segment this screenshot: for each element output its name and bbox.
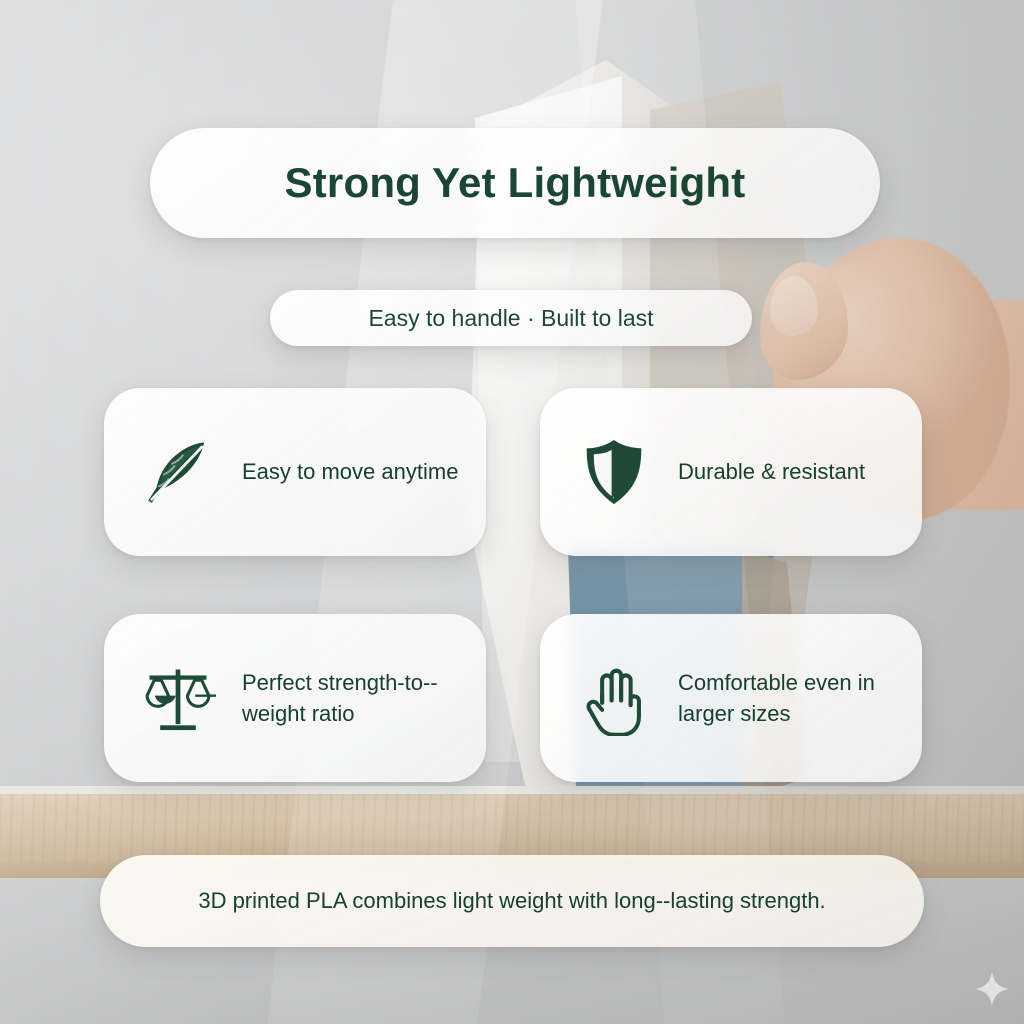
title-pill: Strong Yet Lightweight [150, 128, 880, 238]
feature-label: Perfect strength-to--weight ratio [242, 667, 462, 729]
feature-card-easy-to-move[interactable]: Easy to move anytime [104, 388, 486, 556]
feature-card-strength-to-weight[interactable]: Perfect strength-to--weight ratio [104, 614, 486, 782]
feature-card-durable[interactable]: Durable & resistant [540, 388, 922, 556]
shield-icon [576, 434, 652, 510]
feature-label: Easy to move anytime [242, 456, 458, 487]
open-hand-icon [576, 660, 652, 736]
feature-card-comfortable[interactable]: Comfortable even in larger sizes [540, 614, 922, 782]
sparkle-icon [975, 972, 1009, 1006]
page-subtitle: Easy to handle · Built to last [368, 305, 653, 332]
feather-icon [140, 434, 216, 510]
infographic-canvas: Strong Yet Lightweight Easy to handle · … [0, 0, 1024, 1024]
scales-icon [140, 660, 216, 736]
page-title: Strong Yet Lightweight [285, 159, 746, 207]
caption-pill: 3D printed PLA combines light weight wit… [100, 855, 924, 947]
caption-text: 3D printed PLA combines light weight wit… [154, 885, 869, 917]
feature-label: Comfortable even in larger sizes [678, 667, 898, 729]
feature-label: Durable & resistant [678, 456, 865, 487]
subtitle-pill: Easy to handle · Built to last [270, 290, 752, 346]
